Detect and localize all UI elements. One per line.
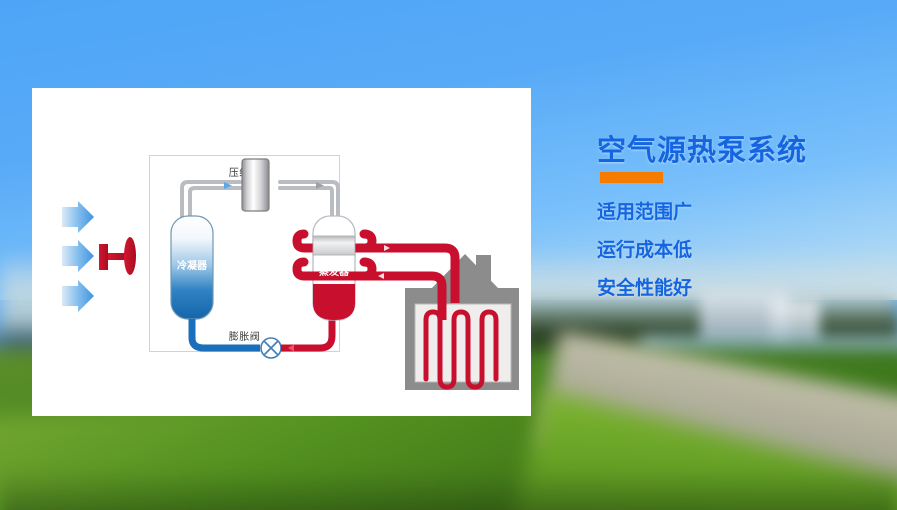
heat-pump-diagram: 冷凝器 — [32, 88, 531, 416]
hot-return-pipe — [281, 320, 332, 348]
list-item: 运行成本低 — [597, 241, 692, 260]
airflow-arrow-bottom — [62, 280, 94, 312]
condenser-label: 冷凝器 — [177, 259, 208, 272]
evaporator-unit: 蒸发器 — [297, 216, 372, 320]
accent-bar — [600, 172, 663, 183]
page-title: 空气源热泵系统 — [597, 127, 807, 169]
feature-list: 适用范围广 运行成本低 安全性能好 — [597, 203, 692, 317]
condenser-unit: 冷凝器 — [171, 216, 213, 319]
list-item: 安全性能好 — [597, 279, 692, 298]
fan-icon — [99, 237, 136, 275]
expansion-valve-icon — [261, 338, 281, 358]
airflow-arrow-middle — [62, 240, 94, 272]
bottom-vignette — [0, 470, 897, 510]
cold-liquid-pipe — [192, 319, 260, 348]
diagram-card: 压缩机 膨胀阀 — [32, 88, 531, 416]
slide-canvas: 压缩机 膨胀阀 — [0, 0, 897, 510]
compressor-unit — [242, 159, 269, 211]
evaporator-label: 蒸发器 — [319, 265, 350, 278]
list-item: 适用范围广 — [597, 203, 692, 222]
airflow-arrow-top — [62, 201, 94, 233]
